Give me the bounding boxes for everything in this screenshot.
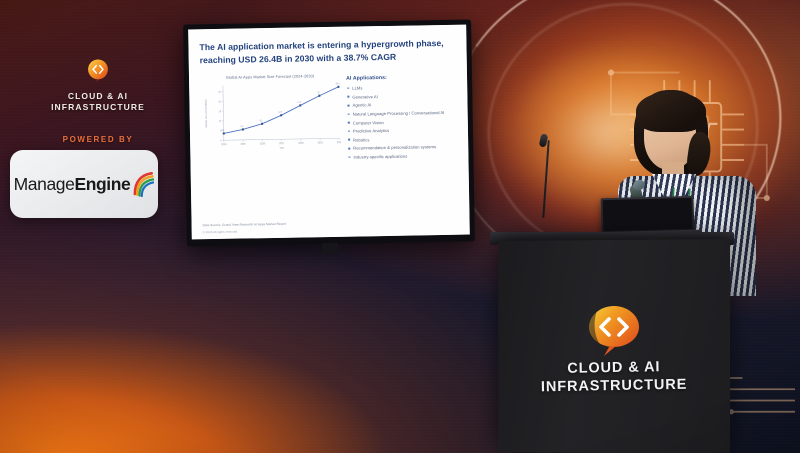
list-item: Computer Vision [347,118,457,125]
svg-text:2027: 2027 [279,142,285,145]
list-item: Generative AI [346,93,456,100]
svg-text:26.4: 26.4 [336,83,341,85]
powered-by-label: POWERED BY [18,135,178,144]
list-item: Recommendation & personalization systems [347,144,457,151]
svg-text:15: 15 [219,110,222,113]
presentation-display: The AI application market is entering a … [183,20,475,247]
list-item: Predictive Analytics [347,127,457,134]
svg-text:2029: 2029 [318,141,324,144]
svg-text:Market Size (USD Billion): Market Size (USD Billion) [205,99,208,128]
display-mount [322,243,338,254]
sponsor-logo-card: ManageEngine [10,150,158,218]
svg-text:5.4: 5.4 [241,126,245,128]
ai-applications-list: LLMsGenerative AIAgentic AINatural Langu… [346,84,457,160]
svg-text:2025: 2025 [241,143,247,146]
laptop-icon [601,196,695,234]
apps-heading: AI Applications: [346,74,456,82]
list-item: Agentic AI [346,101,456,108]
svg-text:12.3: 12.3 [278,112,283,114]
svg-text:25: 25 [218,91,221,94]
svg-text:2030: 2030 [337,141,342,144]
slide-copyright: © 2025 All rights reserved [203,229,287,234]
slide-headline: The AI application market is entering a … [199,37,455,68]
list-item: Industry-specific applications [347,153,457,160]
list-item: Robotics [347,136,457,143]
svg-text:2024: 2024 [221,143,227,146]
slide-chart-column: Global AI Apps Market Size Forecast (202… [200,74,342,166]
presenter-hair-front [636,92,706,132]
manageengine-logo: ManageEngine [14,171,155,197]
svg-text:2028: 2028 [298,142,304,145]
slide-apps-column: AI Applications: LLMsGenerative AIAgenti… [346,72,458,163]
svg-text:2026: 2026 [260,142,266,145]
svg-text:0: 0 [220,139,222,142]
svg-text:Year: Year [279,147,284,150]
presentation-scene: CLOUD & AI INFRASTRUCTURE POWERED BY Man… [0,0,800,453]
svg-text:3.5: 3.5 [221,130,225,132]
svg-text:10: 10 [219,120,222,123]
list-item: Natural Language Processing / Conversati… [347,110,457,117]
laptop-screen [603,198,693,231]
manageengine-swoosh-icon [131,171,154,197]
venue-brand-block: CLOUD & AI INFRASTRUCTURE POWERED BY [18,58,178,144]
cloud-ai-speech-bubble-icon [583,303,645,357]
podium-title: CLOUD & AI INFRASTRUCTURE [510,358,719,397]
cloud-ai-emblem-icon [87,58,109,84]
market-size-line-chart: 05101520252024202520262027202820292030Ye… [200,80,341,156]
display-panel: The AI application market is entering a … [188,25,470,240]
list-item: LLMs [346,84,456,91]
svg-text:20: 20 [218,100,221,103]
slide-footer: Data Source: Grand View Research AI Apps… [203,222,287,234]
slide: The AI application market is entering a … [188,25,470,240]
svg-text:8.1: 8.1 [260,120,264,122]
venue-brand-title: CLOUD & AI INFRASTRUCTURE [18,91,178,113]
svg-text:22: 22 [317,92,320,94]
svg-text:17.2: 17.2 [297,102,302,104]
slide-source-note: Data Source: Grand View Research AI Apps… [203,222,287,227]
sponsor-name: ManageEngine [14,174,131,195]
